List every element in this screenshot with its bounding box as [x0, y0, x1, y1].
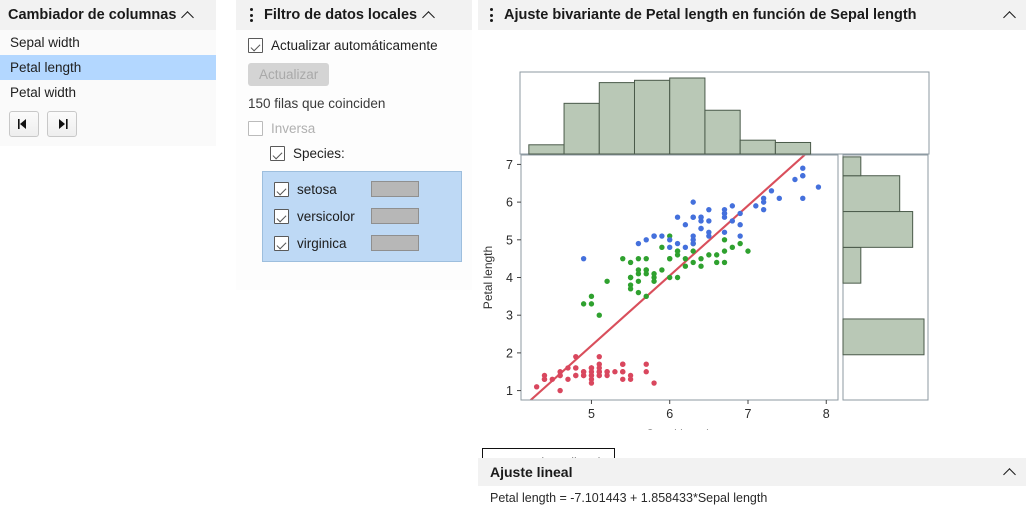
linear-fit-header[interactable]: Ajuste lineal: [478, 458, 1026, 486]
column-switcher-nav: [0, 105, 216, 137]
svg-text:6: 6: [666, 407, 673, 421]
column-item-petal-width[interactable]: Petal width: [0, 80, 216, 105]
auto-update-row[interactable]: Actualizar automáticamente: [248, 38, 462, 53]
local-data-filter-title: Filtro de datos locales: [264, 7, 417, 23]
bivariate-fit-header[interactable]: Ajuste bivariante de Petal length en fun…: [478, 0, 1026, 30]
local-data-filter-panel: Filtro de datos locales Actualizar autom…: [236, 0, 472, 290]
app-root: Cambiador de columnas Sepal width Petal …: [0, 0, 1026, 513]
svg-text:Sepal length: Sepal length: [646, 427, 713, 430]
svg-text:Petal length: Petal length: [481, 246, 495, 309]
update-button[interactable]: Actualizar: [248, 63, 329, 86]
kebab-menu-icon[interactable]: [244, 6, 258, 24]
column-switcher-title: Cambiador de columnas: [8, 7, 176, 23]
chevron-up-icon[interactable]: [421, 7, 437, 23]
inverse-row[interactable]: Inversa: [248, 121, 462, 136]
species-label-versicolor: versicolor: [297, 209, 371, 224]
svg-text:2: 2: [506, 346, 513, 360]
inverse-checkbox[interactable]: [248, 121, 263, 136]
last-column-button[interactable]: [47, 111, 77, 137]
species-group-row[interactable]: Species:: [270, 146, 462, 161]
column-switcher-header[interactable]: Cambiador de columnas: [0, 0, 216, 30]
svg-text:5: 5: [588, 407, 595, 421]
bivariate-plot: 12345675678Sepal lengthPetal length Ajus…: [478, 30, 1026, 455]
svg-text:6: 6: [506, 196, 513, 210]
linear-fit-title: Ajuste lineal: [490, 464, 572, 480]
species-checkbox-setosa[interactable]: [274, 182, 289, 197]
svg-text:4: 4: [506, 271, 513, 285]
species-bar-virginica: [371, 235, 419, 251]
column-item-petal-length[interactable]: Petal length: [0, 55, 216, 80]
chevron-up-icon[interactable]: [1002, 7, 1018, 23]
column-switcher-panel: Cambiador de columnas Sepal width Petal …: [0, 0, 216, 146]
species-bar-versicolor: [371, 208, 419, 224]
column-switcher-list: Sepal width Petal length Petal width: [0, 30, 216, 137]
svg-text:7: 7: [745, 407, 752, 421]
species-label-virginica: virginica: [297, 236, 371, 251]
chevron-up-icon[interactable]: [1002, 464, 1018, 480]
svg-text:7: 7: [506, 158, 513, 172]
species-checkbox-virginica[interactable]: [274, 236, 289, 251]
auto-update-label: Actualizar automáticamente: [271, 38, 438, 53]
svg-text:3: 3: [506, 309, 513, 323]
plot-svg[interactable]: 12345675678Sepal lengthPetal length: [478, 30, 1026, 430]
species-bar-setosa: [371, 181, 419, 197]
local-data-filter-body: Actualizar automáticamente Actualizar 15…: [236, 30, 472, 272]
chevron-up-icon[interactable]: [180, 7, 196, 23]
svg-text:5: 5: [506, 233, 513, 247]
first-column-button[interactable]: [9, 111, 39, 137]
local-data-filter-header[interactable]: Filtro de datos locales: [236, 0, 472, 30]
linear-fit-panel: Ajuste lineal Petal length = -7.101443 +…: [478, 458, 1026, 513]
kebab-menu-icon[interactable]: [484, 6, 498, 24]
inverse-label: Inversa: [271, 121, 315, 136]
bivariate-fit-panel: Ajuste bivariante de Petal length en fun…: [478, 0, 1026, 455]
column-item-sepal-width[interactable]: Sepal width: [0, 30, 216, 55]
species-value-list: setosa versicolor virginica: [262, 171, 462, 262]
species-group-label: Species:: [293, 146, 345, 161]
bivariate-fit-title: Ajuste bivariante de Petal length en fun…: [504, 7, 917, 23]
svg-text:8: 8: [823, 407, 830, 421]
auto-update-checkbox[interactable]: [248, 38, 263, 53]
species-checkbox-versicolor[interactable]: [274, 209, 289, 224]
matching-rows-count: 150 filas que coinciden: [248, 96, 462, 111]
species-item-versicolor[interactable]: versicolor: [274, 208, 451, 224]
species-label-setosa: setosa: [297, 182, 371, 197]
species-item-virginica[interactable]: virginica: [274, 235, 451, 251]
species-item-setosa[interactable]: setosa: [274, 181, 451, 197]
species-group-checkbox[interactable]: [270, 146, 285, 161]
linear-fit-equation: Petal length = -7.101443 + 1.858433*Sepa…: [478, 486, 1026, 505]
svg-text:1: 1: [506, 384, 513, 398]
